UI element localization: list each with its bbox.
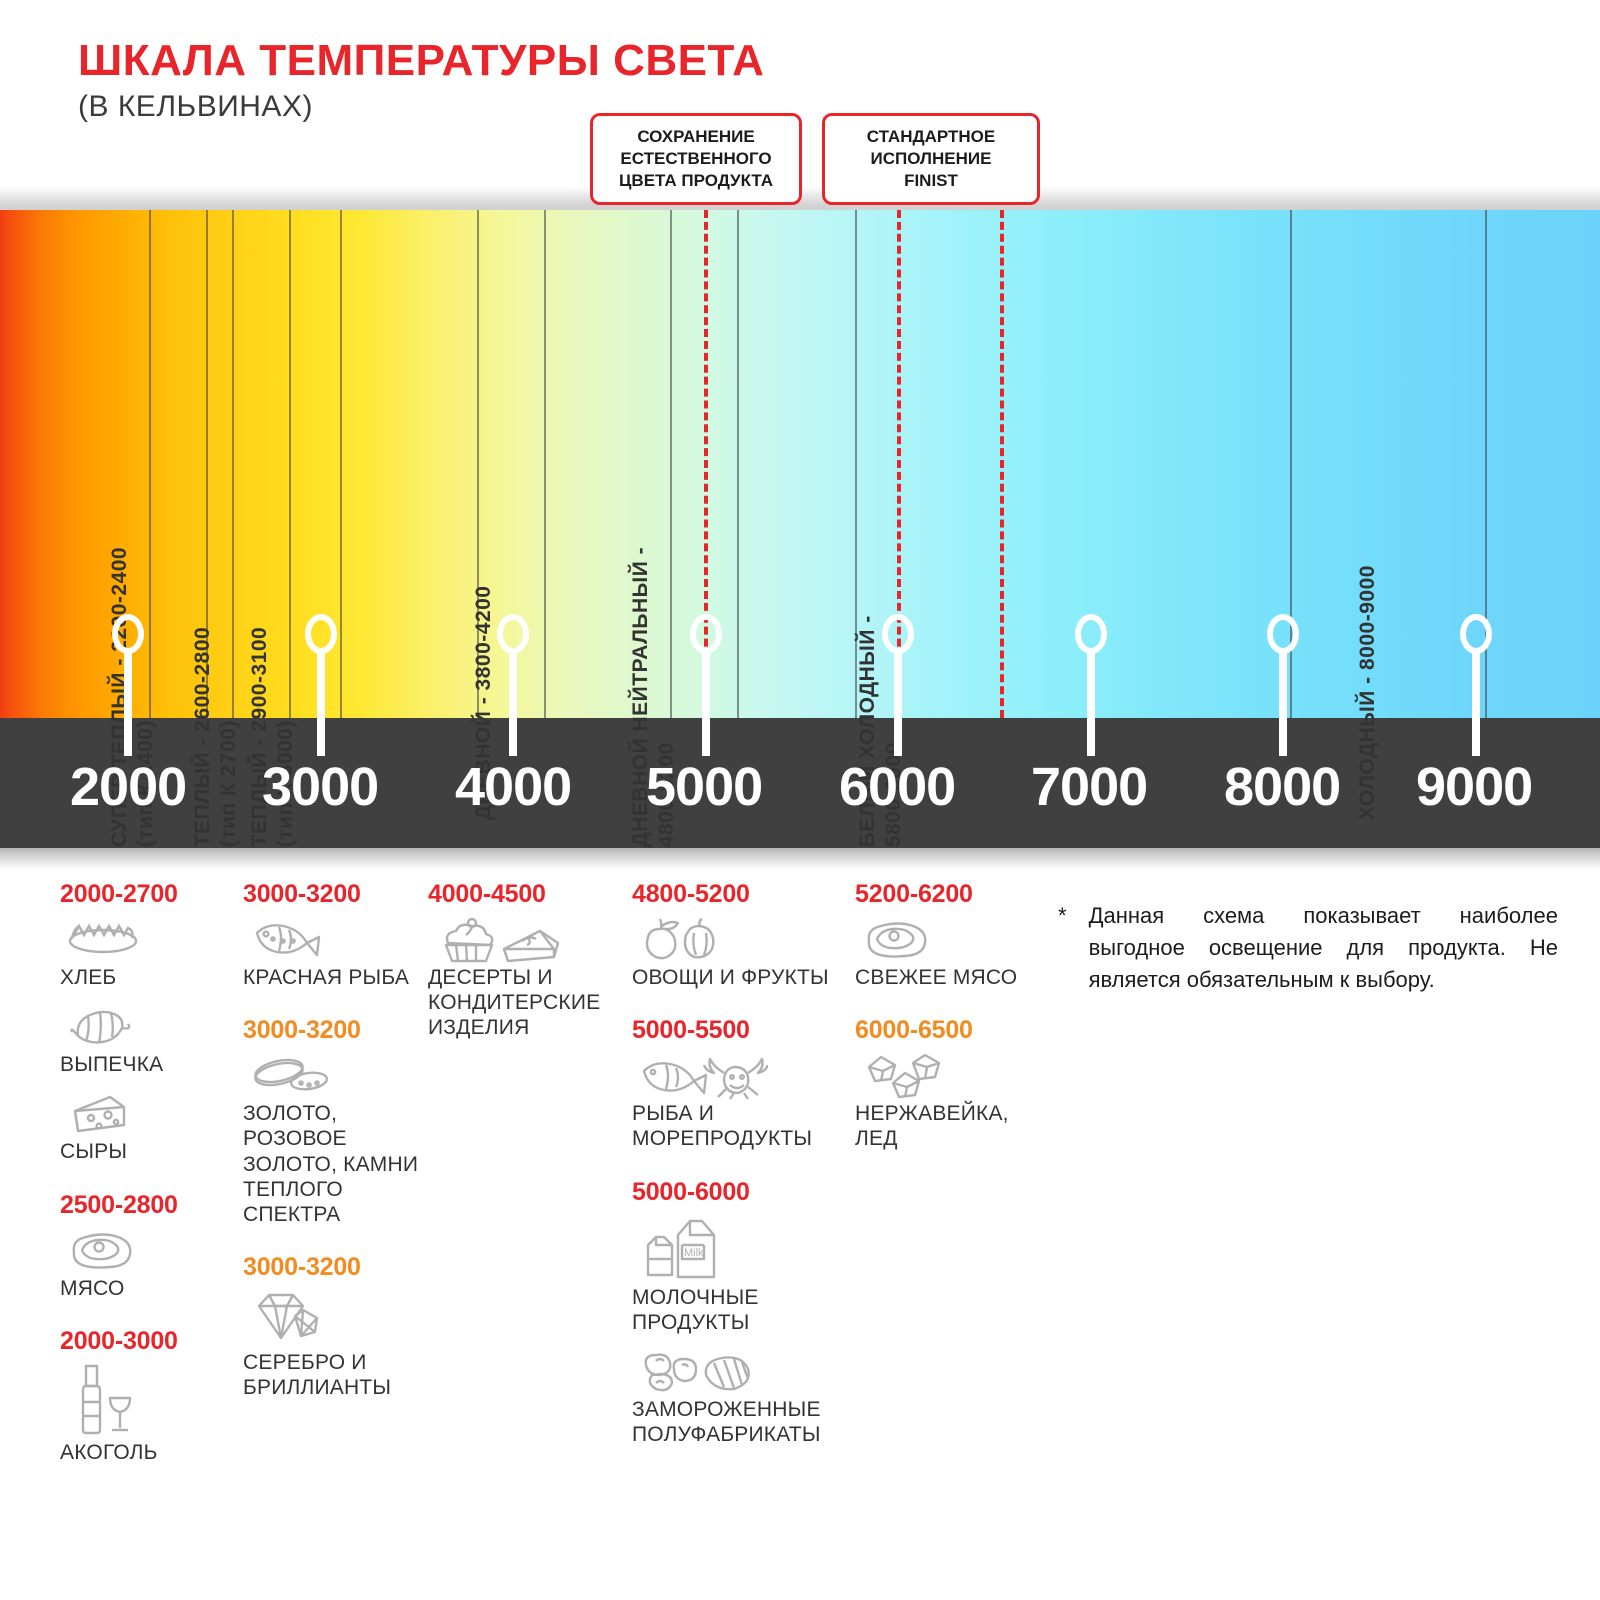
axis-label-7000: 7000 <box>1031 756 1147 818</box>
legend-entry-label: НЕРЖАВЕЙКА, ЛЕД <box>855 1101 1035 1151</box>
legend-entry-label: ДЕСЕРТЫ И КОНДИТЕРСКИЕ ИЗДЕЛИЯ <box>428 965 623 1041</box>
svg-text:Milk: Milk <box>684 1247 704 1259</box>
scale-marker-9000 <box>1460 614 1492 756</box>
legend-group: 5000-5500 РЫБА И МОРЕПРОДУКТЫ <box>632 1016 847 1151</box>
axis-label-9000: 9000 <box>1416 756 1532 818</box>
marker-head <box>690 614 722 654</box>
legend-entry-label: ОВОЩИ И ФРУКТЫ <box>632 965 847 990</box>
footnote: * Данная схема показывает наиболее выгод… <box>1058 900 1558 996</box>
legend-group: 2000-3000 АКОГОЛЬ <box>60 1327 235 1465</box>
legend-range: 5000-5500 <box>632 1016 847 1045</box>
legend-entry-frozen: ЗАМОРОЖЕННЫЕ ПОЛУФАБРИКАТЫ <box>632 1349 847 1447</box>
legend-range: 2500-2800 <box>60 1191 235 1220</box>
legend-entry-label: КРАСНАЯ РЫБА <box>243 965 423 990</box>
marker-stem <box>509 651 517 756</box>
legend-range: 4800-5200 <box>632 880 847 909</box>
marker-stem <box>1087 651 1095 756</box>
legend-group: 3000-3200 ЗОЛОТО, РОЗОВОЕ ЗОЛОТО, КАМНИ … <box>243 1016 423 1227</box>
scale-marker-3000 <box>305 614 337 756</box>
legend-entry-label: РЫБА И МОРЕПРОДУКТЫ <box>632 1101 847 1151</box>
band-divider <box>737 210 739 718</box>
axis-label-8000: 8000 <box>1224 756 1340 818</box>
fresh-meat-icon <box>861 917 1035 961</box>
legend-entry-label: МЯСО <box>60 1276 235 1301</box>
marker-stem <box>894 651 902 756</box>
marker-head <box>1460 614 1492 654</box>
scale-bottom-shadow <box>0 848 1600 870</box>
legend-entry-label: СЫРЫ <box>60 1139 235 1164</box>
legend-range: 5000-6000 <box>632 1178 847 1207</box>
legend-entry-label: СВЕЖЕЕ МЯСО <box>855 965 1035 990</box>
legend-column: 2000-2700 ХЛЕБ ВЫПЕЧКА СЫРЫ 250 <box>60 880 235 1491</box>
legend-entry-meat: МЯСО <box>60 1228 235 1301</box>
legend-entry-alcohol: АКОГОЛЬ <box>60 1364 235 1465</box>
legend-range: 3000-3200 <box>243 880 423 909</box>
marker-stem <box>1472 651 1480 756</box>
legend-range: 3000-3200 <box>243 1016 423 1045</box>
rings-icon <box>249 1053 423 1097</box>
marker-stem <box>317 651 325 756</box>
legend-range: 5200-6200 <box>855 880 1035 909</box>
scale-marker-5000 <box>690 614 722 756</box>
diamond-icon <box>249 1290 423 1346</box>
band-label-cold: ХОЛОДНЫЙ - 8000-9000 <box>1356 565 1380 820</box>
footnote-text: Данная схема показывает наиболее выгодно… <box>1089 900 1558 996</box>
fruit-vegetable-icon <box>638 917 847 961</box>
fish-crab-icon <box>638 1053 847 1097</box>
legend-entry-label: ВЫПЕЧКА <box>60 1052 235 1077</box>
footnote-asterisk: * <box>1058 900 1067 996</box>
legend-entry-label: ЗАМОРОЖЕННЫЕ ПОЛУФАБРИКАТЫ <box>632 1397 847 1447</box>
legend-range: 3000-3200 <box>243 1253 423 1282</box>
legend-entry-label: МОЛОЧНЫЕ ПРОДУКТЫ <box>632 1285 847 1335</box>
axis-label-3000: 3000 <box>262 756 378 818</box>
frozen-food-icon <box>638 1349 847 1393</box>
legend-range: 2000-3000 <box>60 1327 235 1356</box>
scale-marker-8000 <box>1267 614 1299 756</box>
band-divider <box>340 210 342 718</box>
legend-group: 6000-6500 НЕРЖАВЕЙКА, ЛЕД <box>855 1016 1035 1151</box>
axis-label-5000: 5000 <box>646 756 762 818</box>
marker-head <box>497 614 529 654</box>
cheese-icon <box>66 1091 235 1135</box>
legend-entry-diamond: СЕРЕБРО И БРИЛЛИАНТЫ <box>243 1290 423 1400</box>
legend-entry-pastry: ВЫПЕЧКА <box>60 1004 235 1077</box>
croissant-icon <box>66 1004 235 1048</box>
scale-marker-7000 <box>1075 614 1107 756</box>
fish-icon <box>249 917 423 961</box>
dessert-icon <box>434 917 623 961</box>
legend-entry-desserts: ДЕСЕРТЫ И КОНДИТЕРСКИЕ ИЗДЕЛИЯ <box>428 917 623 1041</box>
callout-line-2: ИСПОЛНЕНИЕ <box>837 148 1025 170</box>
ice-cube-icon <box>861 1053 1035 1097</box>
steak-icon <box>66 1228 235 1272</box>
alcohol-icon <box>66 1364 235 1436</box>
band-divider <box>544 210 546 718</box>
legend-group: 3000-3200 КРАСНАЯ РЫБА <box>243 880 423 990</box>
legend-entry-label: ХЛЕБ <box>60 965 235 990</box>
legend-group: 3000-3200 СЕРЕБРО И БРИЛЛИАНТЫ <box>243 1253 423 1400</box>
milk-icon: Milk <box>638 1215 847 1281</box>
callout-standard-finist: СТАНДАРТНОЕ ИСПОЛНЕНИЕ FINIST <box>822 113 1040 205</box>
callout-line-1: СТАНДАРТНОЕ <box>837 126 1025 148</box>
scale-marker-2000 <box>112 614 144 756</box>
legend-column: 4000-4500 ДЕСЕРТЫ И КОНДИТЕРСКИЕ ИЗДЕЛИЯ <box>428 880 623 1067</box>
legend-group: 2000-2700 ХЛЕБ ВЫПЕЧКА СЫРЫ <box>60 880 235 1165</box>
marker-stem <box>702 651 710 756</box>
page-title: ШКАЛА ТЕМПЕРАТУРЫ СВЕТА <box>78 38 764 84</box>
legend-entry-dairy: Milk МОЛОЧНЫЕ ПРОДУКТЫ <box>632 1215 847 1335</box>
scale-marker-6000 <box>882 614 914 756</box>
legend-entry-cheese: СЫРЫ <box>60 1091 235 1164</box>
legend-group: 5000-6000 Milk МОЛОЧНЫЕ ПРОДУКТЫ ЗАМОРОЖ… <box>632 1178 847 1448</box>
legend-range: 2000-2700 <box>60 880 235 909</box>
legend-group: 2500-2800 МЯСО <box>60 1191 235 1301</box>
legend-range: 6000-6500 <box>855 1016 1035 1045</box>
legend-entry-ice: НЕРЖАВЕЙКА, ЛЕД <box>855 1053 1035 1151</box>
legend-group: 5200-6200 СВЕЖЕЕ МЯСО <box>855 880 1035 990</box>
legend-entry-gold: ЗОЛОТО, РОЗОВОЕ ЗОЛОТО, КАМНИ ТЕПЛОГО СП… <box>243 1053 423 1227</box>
marker-head <box>1075 614 1107 654</box>
legend-column: 3000-3200 КРАСНАЯ РЫБА 3000-3200 ЗОЛОТО,… <box>243 880 423 1427</box>
callout-line-1: СОХРАНЕНИЕ <box>605 126 787 148</box>
legend-entry-bread: ХЛЕБ <box>60 917 235 990</box>
callout-line-2: ЕСТЕСТВЕННОГО <box>605 148 787 170</box>
legend-entry-red-fish: КРАСНАЯ РЫБА <box>243 917 423 990</box>
band-label-warm-2700: ТЕПЛЫЙ - 2600-2800 (тип К 2700) <box>190 627 241 847</box>
callout-line-3: ЦВЕТА ПРОДУКТА <box>605 170 787 192</box>
legend-entry-label: АКОГОЛЬ <box>60 1440 235 1465</box>
legend-entry-vegetables: ОВОЩИ И ФРУКТЫ <box>632 917 847 990</box>
scale-marker-4000 <box>497 614 529 756</box>
legend-range: 4000-4500 <box>428 880 623 909</box>
red-dashed-line-finist-end <box>1000 210 1004 718</box>
page-header: ШКАЛА ТЕМПЕРАТУРЫ СВЕТА (В КЕЛЬВИНАХ) <box>78 38 764 124</box>
marker-stem <box>1279 651 1287 756</box>
legend-entry-label: СЕРЕБРО И БРИЛЛИАНТЫ <box>243 1350 423 1400</box>
marker-head <box>1267 614 1299 654</box>
marker-head <box>305 614 337 654</box>
marker-head <box>112 614 144 654</box>
callout-natural-color: СОХРАНЕНИЕ ЕСТЕСТВЕННОГО ЦВЕТА ПРОДУКТА <box>590 113 802 205</box>
legend-entry-seafood: РЫБА И МОРЕПРОДУКТЫ <box>632 1053 847 1151</box>
legend-group: 4000-4500 ДЕСЕРТЫ И КОНДИТЕРСКИЕ ИЗДЕЛИЯ <box>428 880 623 1041</box>
temperature-scale: СУПЕР ТЕПЛЫЙ - 2200-2400 (тип К 2400) ТЕ… <box>0 186 1600 866</box>
marker-head <box>882 614 914 654</box>
legend-column: 4800-5200 ОВОЩИ И ФРУКТЫ 5000-5500 РЫБА … <box>632 880 847 1473</box>
legend-group: 4800-5200 ОВОЩИ И ФРУКТЫ <box>632 880 847 990</box>
legend-entry-fresh-meat: СВЕЖЕЕ МЯСО <box>855 917 1035 990</box>
axis-label-6000: 6000 <box>839 756 955 818</box>
legend-column: 5200-6200 СВЕЖЕЕ МЯСО 6000-6500 НЕРЖАВЕЙ… <box>855 880 1035 1178</box>
axis-label-2000: 2000 <box>70 756 186 818</box>
bread-icon <box>66 917 235 961</box>
axis-label-4000: 4000 <box>455 756 571 818</box>
callout-line-3: FINIST <box>837 170 1025 192</box>
marker-stem <box>124 651 132 756</box>
legend-entry-label: ЗОЛОТО, РОЗОВОЕ ЗОЛОТО, КАМНИ ТЕПЛОГО СП… <box>243 1101 423 1227</box>
